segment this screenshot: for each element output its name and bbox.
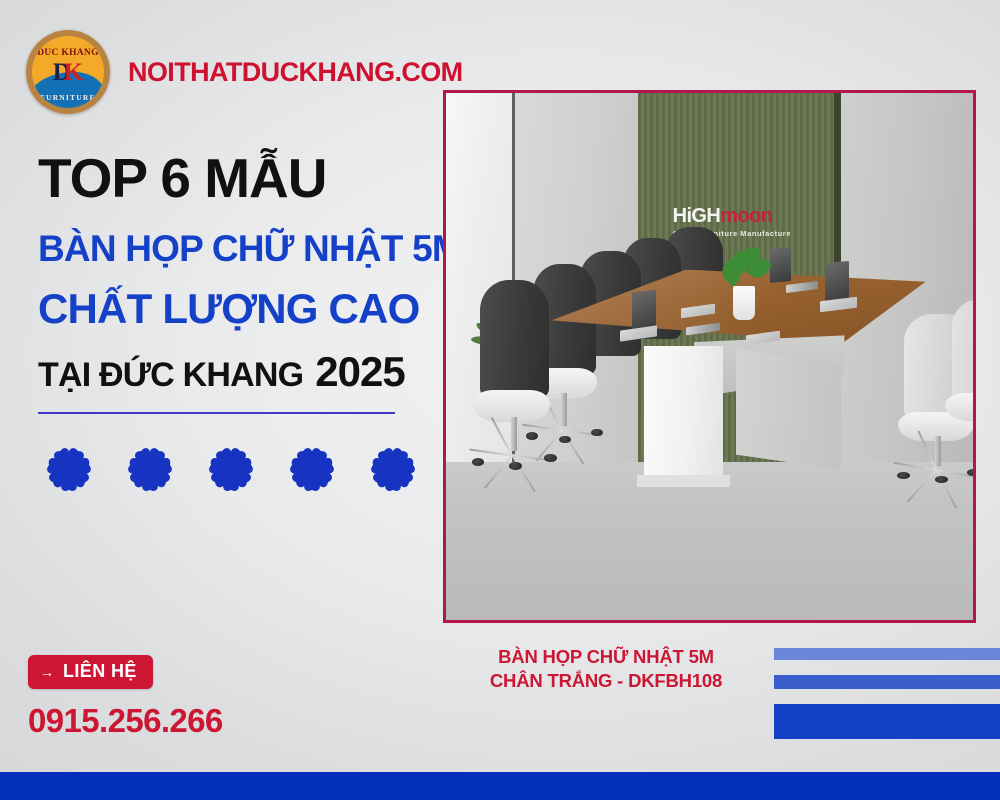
contact-block: → LIÊN HỆ 0915.256.266 <box>28 655 223 740</box>
product-caption-line-1: BÀN HỌP CHỮ NHẬT 5M <box>456 645 756 669</box>
decor-bar-3 <box>774 704 1000 739</box>
headline-line-1: TOP 6 MẪU <box>38 150 438 206</box>
duc-khang-logo: DUC KHANG DK FURNITURE <box>26 30 110 114</box>
product-caption-line-2: CHÂN TRẮNG - DKFBH108 <box>456 669 756 693</box>
table-base-white <box>644 346 723 483</box>
logo-inner-disc: DUC KHANG DK FURNITURE <box>32 36 104 108</box>
website-url[interactable]: NOITHATDUCKHANG.COM <box>128 57 463 88</box>
contact-button[interactable]: → LIÊN HỆ <box>28 655 153 689</box>
chair <box>480 280 549 470</box>
flower-icon <box>362 436 424 498</box>
flower-icon <box>119 436 181 498</box>
headline-line-2: BÀN HỌP CHỮ NHẬT 5M <box>38 230 438 268</box>
flower-icon <box>200 436 262 498</box>
headline-year: 2025 <box>315 348 404 396</box>
bottom-blue-strip <box>0 772 1000 800</box>
decor-bar-1 <box>774 648 1000 660</box>
decorative-bars <box>774 648 1000 739</box>
logo-bottom-text: FURNITURE <box>32 93 104 102</box>
table-plant <box>723 241 765 320</box>
headline-line-4-text: TẠI ĐỨC KHANG <box>38 356 303 395</box>
flower-icon <box>38 436 100 498</box>
logo-monogram-k: K <box>64 59 83 86</box>
headline-line-3: CHẤT LƯỢNG CAO <box>38 287 438 331</box>
table-plant-pot <box>733 286 755 319</box>
laptop-screen <box>825 261 849 303</box>
headline-column: TOP 6 MẪU BÀN HỌP CHỮ NHẬT 5M CHẤT LƯỢNG… <box>38 150 438 498</box>
phone-number[interactable]: 0915.256.266 <box>28 702 223 740</box>
promo-banner: DUC KHANG DK FURNITURE NOITHATDUCKHANG.C… <box>0 0 1000 800</box>
highmoon-brand-part2: moon <box>720 205 772 227</box>
product-photo: HiGHmoon Office Furniture Manufacture <box>446 93 973 620</box>
rating-flowers <box>38 436 438 498</box>
logo-top-text: DUC KHANG <box>32 48 104 58</box>
highmoon-brand-part1: HiGH <box>673 205 721 227</box>
product-caption: BÀN HỌP CHỮ NHẬT 5M CHÂN TRẮNG - DKFBH10… <box>456 645 756 694</box>
headline-line-4: TẠI ĐỨC KHANG 2025 <box>38 348 438 396</box>
contact-button-label: LIÊN HỆ <box>63 661 137 682</box>
highmoon-brand: HiGHmoon <box>673 206 791 226</box>
flower-icon <box>281 436 343 498</box>
arrow-right-icon: → <box>40 665 54 679</box>
product-photo-frame: HiGHmoon Office Furniture Manufacture <box>443 90 976 623</box>
table-base-foot <box>637 475 730 487</box>
logo-monogram: DK <box>32 60 104 85</box>
banner-header: DUC KHANG DK FURNITURE NOITHATDUCKHANG.C… <box>26 30 463 114</box>
headline-divider <box>38 412 395 414</box>
decor-bar-2 <box>774 675 1000 689</box>
laptop-screen <box>770 248 791 284</box>
chair <box>952 299 973 462</box>
table-base-far <box>736 343 841 469</box>
